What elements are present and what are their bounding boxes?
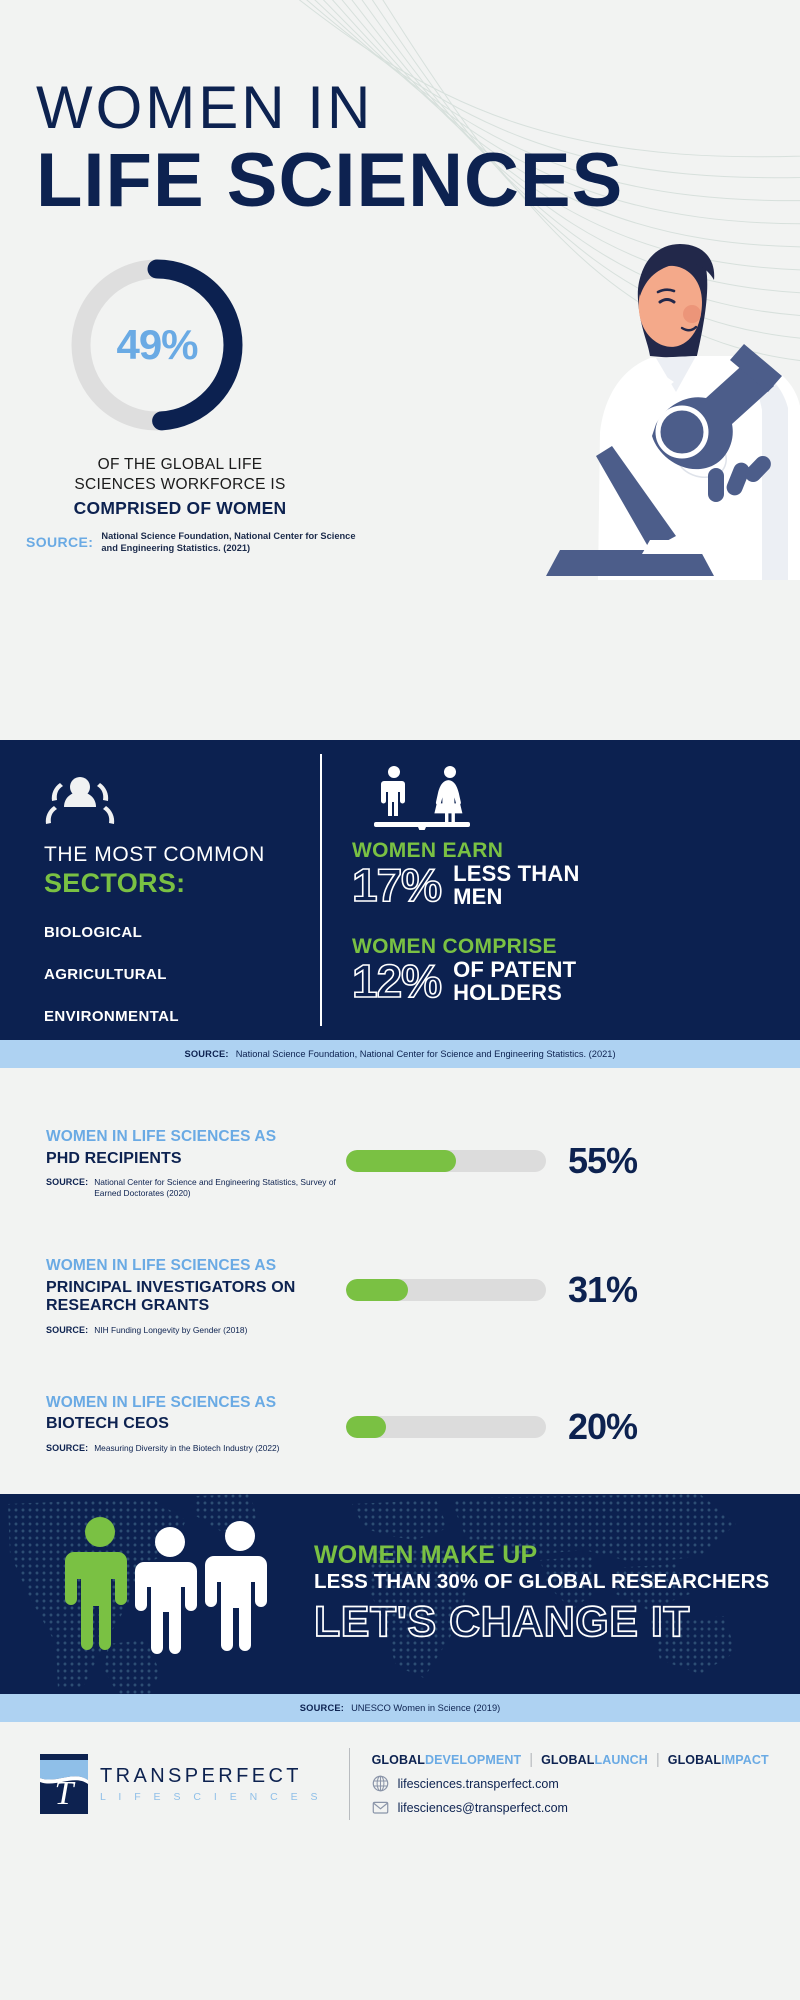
sector-item-agricultural: AGRICULTURAL [44,966,320,983]
transperfect-logo[interactable]: T TRANSPERFECT L I F E S C I E N C E S [40,1754,323,1814]
bar-row-source-text: Measuring Diversity in the Biotech Indus… [94,1443,279,1454]
cta-line-3: LET'S CHANGE IT [314,1598,769,1646]
progress-fill [346,1150,456,1172]
gender-balance-scale-icon [370,764,478,830]
globe-icon [372,1775,389,1792]
infographic-page: WOMEN IN LIFE SCIENCES [0,0,800,2000]
bar-row-kicker: WOMEN IN LIFE SCIENCES AS [46,1128,346,1147]
pay-stat-1-text-line-2: MEN [453,884,503,909]
bar-row-title: PHD RECIPIENTS [46,1150,346,1169]
transperfect-logo-mark-icon: T [40,1754,88,1814]
cta-text-block: WOMEN MAKE UP LESS THAN 30% OF GLOBAL RE… [314,1542,769,1646]
email-link[interactable]: lifesciences@transperfect.com [372,1799,769,1816]
service-prefix: GLOBAL [372,1753,425,1767]
progress-track [346,1150,546,1172]
bar-row-source-label: SOURCE: [46,1325,88,1335]
donut-caption-bold: COMPRISED OF WOMEN [0,498,360,519]
service-accent: LAUNCH [594,1753,647,1767]
people-group-icon [44,776,116,824]
hero-section: WOMEN IN LIFE SCIENCES [0,0,800,740]
bar-row-source-text: National Center for Science and Engineer… [94,1177,346,1199]
hero-source-label: SOURCE: [26,534,93,550]
service-prefix: GLOBAL [541,1753,594,1767]
sectors-heading-line-2: SECTORS: [44,868,320,899]
source-band-1: SOURCE: National Science Foundation, Nat… [0,1040,800,1068]
service-accent: DEVELOPMENT [425,1753,521,1767]
progress-bars-section: WOMEN IN LIFE SCIENCES AS PHD RECIPIENTS… [0,1068,800,1494]
pay-stat-2-number: 12% [352,957,441,1005]
footer: T TRANSPERFECT L I F E S C I E N C E S G… [0,1722,800,1846]
website-text: lifesciences.transperfect.com [398,1777,559,1791]
pay-stat-2: WOMEN COMPRISE 12% OF PATENT HOLDERS [352,935,800,1005]
scientist-with-microscope-illustration [500,210,800,580]
pay-stat-2-text-line-2: HOLDERS [453,980,562,1005]
source-band-1-text: National Science Foundation, National Ce… [236,1049,616,1059]
source-band-2-label: SOURCE: [300,1703,344,1713]
email-text: lifesciences@transperfect.com [398,1801,568,1815]
pay-stat-1-number: 17% [352,861,441,909]
website-link[interactable]: lifesciences.transperfect.com [372,1775,769,1792]
hero-title-line-2: LIFE SCIENCES [36,142,623,220]
donut-caption-line-1: OF THE GLOBAL LIFE [98,456,263,473]
envelope-icon [372,1799,389,1816]
services-list: GLOBALDEVELOPMENT | GLOBALLAUNCH | GLOBA… [372,1751,769,1768]
bar-row-source-label: SOURCE: [46,1443,88,1453]
footer-divider [349,1748,350,1820]
donut-chart: 49% [62,250,252,440]
sectors-panel: THE MOST COMMON SECTORS: BIOLOGICAL AGRI… [0,740,320,1040]
bar-row-percent-label: 55% [568,1140,673,1182]
navy-stats-section: THE MOST COMMON SECTORS: BIOLOGICAL AGRI… [0,740,800,1040]
hero-source-text: National Science Foundation, National Ce… [101,530,371,555]
bar-row-title: PRINCIPAL INVESTIGATORS ON RESEARCH GRAN… [46,1279,346,1316]
donut-caption: OF THE GLOBAL LIFE SCIENCES WORKFORCE IS… [0,455,360,519]
bar-row-title: BIOTECH CEOS [46,1415,346,1434]
donut-value-label: 49% [62,250,252,440]
progress-fill [346,1279,408,1301]
progress-fill [346,1416,386,1438]
source-band-2-text: UNESCO Women in Science (2019) [351,1703,500,1713]
bar-row-principal-investigators: WOMEN IN LIFE SCIENCES AS PRINCIPAL INVE… [0,1251,800,1336]
logo-subtitle: L I F E S C I E N C E S [100,1791,323,1803]
service-prefix: GLOBAL [668,1753,721,1767]
pay-stat-1: WOMEN EARN 17% LESS THAN MEN [352,839,800,909]
cta-line-2: LESS THAN 30% OF GLOBAL RESEARCHERS [314,1571,769,1594]
pay-gap-panel: WOMEN EARN 17% LESS THAN MEN WOMEN COMPR… [320,740,800,1040]
service-global-launch[interactable]: GLOBALLAUNCH [541,1753,648,1767]
bar-row-percent-label: 31% [568,1269,673,1311]
service-accent: IMPACT [721,1753,769,1767]
three-people-icon [58,1514,308,1674]
service-separator: | [529,1751,533,1768]
progress-track [346,1279,546,1301]
source-band-1-label: SOURCE: [184,1049,228,1059]
donut-caption-line-2: SCIENCES WORKFORCE IS [74,476,285,493]
svg-text:T: T [55,1775,76,1812]
hero-source: SOURCE: National Science Foundation, Nat… [26,530,371,555]
bar-row-phd-recipients: WOMEN IN LIFE SCIENCES AS PHD RECIPIENTS… [0,1122,800,1199]
service-global-development[interactable]: GLOBALDEVELOPMENT [372,1753,522,1767]
bar-row-kicker: WOMEN IN LIFE SCIENCES AS [46,1257,346,1276]
bar-row-source-text: NIH Funding Longevity by Gender (2018) [94,1325,247,1336]
service-global-impact[interactable]: GLOBALIMPACT [668,1753,769,1767]
hero-title: WOMEN IN LIFE SCIENCES [36,78,623,220]
panel-divider [320,754,322,1026]
sectors-heading-line-1: THE MOST COMMON [44,843,320,867]
service-separator: | [656,1751,660,1768]
bar-row-kicker: WOMEN IN LIFE SCIENCES AS [46,1394,346,1413]
bar-row-percent-label: 20% [568,1406,673,1448]
cta-line-1: WOMEN MAKE UP [314,1542,769,1570]
call-to-action-section: WOMEN MAKE UP LESS THAN 30% OF GLOBAL RE… [0,1494,800,1694]
source-band-2: SOURCE: UNESCO Women in Science (2019) [0,1694,800,1722]
pay-stat-2-text-line-1: OF PATENT [453,957,576,982]
logo-name: TRANSPERFECT [100,1765,323,1787]
bar-row-source-label: SOURCE: [46,1177,88,1187]
bar-row-biotech-ceos: WOMEN IN LIFE SCIENCES AS BIOTECH CEOS S… [0,1388,800,1454]
sector-item-biological: BIOLOGICAL [44,924,320,941]
progress-track [346,1416,546,1438]
pay-stat-1-text-line-1: LESS THAN [453,861,579,886]
sector-item-environmental: ENVIRONMENTAL [44,1008,320,1025]
hero-title-line-1: WOMEN IN [36,78,623,138]
